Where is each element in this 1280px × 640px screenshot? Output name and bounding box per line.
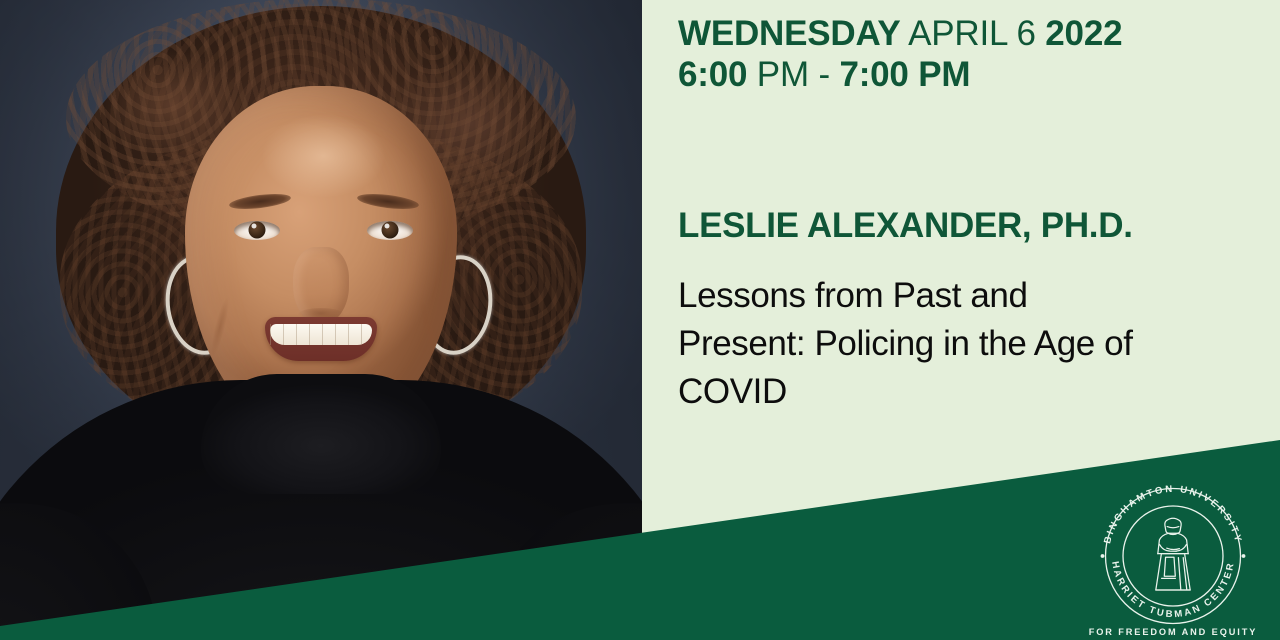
shoulder-left <box>0 478 175 640</box>
event-date-line: WEDNESDAY APRIL 6 2022 <box>678 13 1122 54</box>
eye-right <box>367 221 413 240</box>
event-start-meridiem: PM <box>757 55 809 94</box>
event-month-day: APRIL 6 <box>908 14 1036 53</box>
iris-right <box>382 222 399 239</box>
black-turtleneck <box>0 380 642 640</box>
iris-left <box>248 222 265 239</box>
teeth <box>270 324 372 345</box>
logo-tagline: FOR FREEDOM AND EQUITY <box>1089 627 1258 637</box>
smile-line-left <box>208 296 233 359</box>
eye-left <box>234 221 280 240</box>
speaker-name: LESLIE ALEXANDER, PH.D. <box>678 206 1133 246</box>
event-time-line: 6:00 PM - 7:00 PM <box>678 54 1122 95</box>
event-datetime: WEDNESDAY APRIL 6 2022 6:00 PM - 7:00 PM <box>678 13 1122 95</box>
event-poster: WEDNESDAY APRIL 6 2022 6:00 PM - 7:00 PM… <box>0 0 1280 640</box>
logo-dot-left <box>1101 554 1105 558</box>
event-weekday: WEDNESDAY <box>678 14 901 53</box>
logo-inner-ring <box>1123 506 1223 606</box>
time-range-separator: - <box>818 55 829 94</box>
smiling-mouth <box>265 317 377 361</box>
event-year: 2022 <box>1045 14 1122 53</box>
event-start-time: 6:00 <box>678 55 747 94</box>
shoulder-right <box>467 478 642 640</box>
eyebrow-right <box>356 191 419 211</box>
eyebrow-left <box>228 191 291 211</box>
forehead-highlight <box>261 114 386 198</box>
logo-dot-right <box>1242 554 1246 558</box>
speaker-photo <box>0 0 642 640</box>
logo-arc-top-text: BINGHAMTON UNIVERSITY <box>1102 484 1244 545</box>
event-end-time: 7:00 PM <box>839 55 970 94</box>
talk-title: Lessons from Past and Present: Policing … <box>678 272 1148 416</box>
harriet-tubman-figure-icon <box>1156 518 1190 590</box>
harriet-tubman-center-logo: BINGHAMTON UNIVERSITY HARRIET TUBMAN CEN… <box>1083 482 1263 627</box>
smile-line-right <box>415 296 440 359</box>
nose <box>293 247 349 325</box>
